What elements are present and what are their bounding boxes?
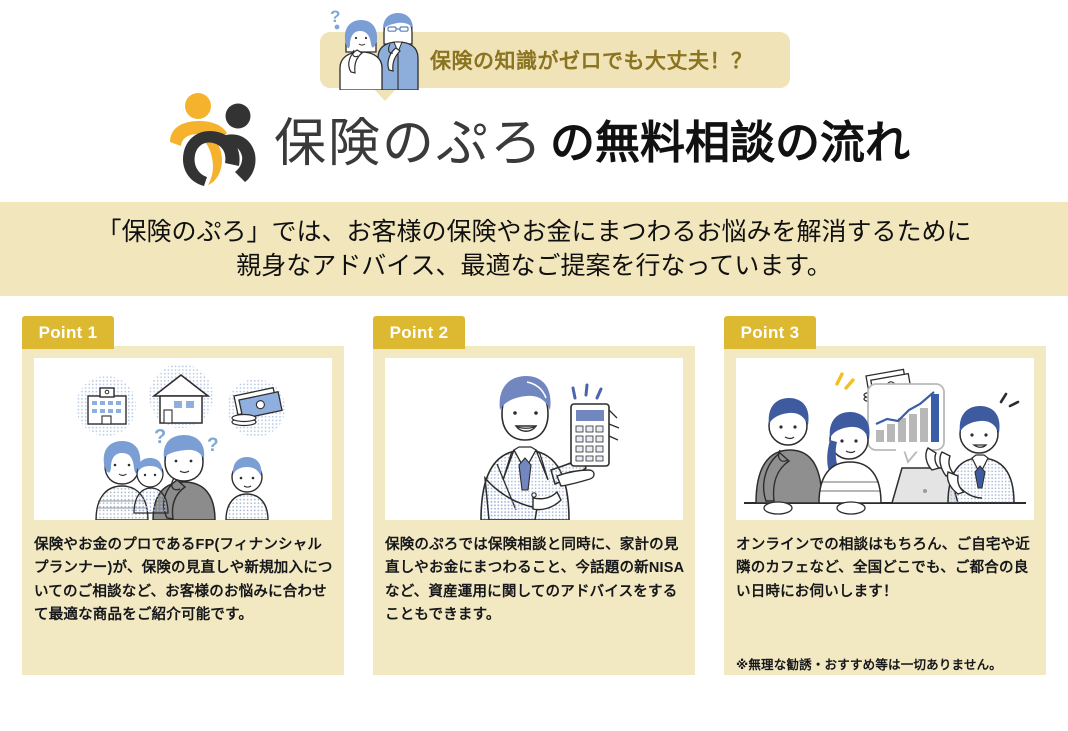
svg-text:?: ? [207,435,219,456]
page-title-rest: の無料相談の流れ [550,106,910,171]
businessman-calculator-icon [385,358,683,520]
point-card-body-2: 保険のぷろでは保険相談と同時に、家計の見直しやお金にまつわること、今話題の新NI… [373,346,695,675]
point-note-3: ※無理な勧誘・おすすめ等は一切ありません。 [736,654,1036,673]
svg-text:?: ? [330,7,340,26]
page-header: 保険のぷろ の無料相談の流れ [0,88,1068,192]
svg-text:?: ? [154,426,166,448]
ribbon-text: 保険の知識がゼロでも大丈夫！？ [430,32,753,88]
thinking-people-icon: ? [326,0,436,90]
point-card-body-1: ? ? [22,346,344,675]
point-illustration-3 [736,358,1034,520]
family-thought-bubbles-icon: ? ? [34,358,332,520]
consultation-with-chart-icon [736,358,1034,520]
point-illustration-2 [385,358,683,520]
point-card-3: Point 3 [724,316,1046,675]
point-badge-2: Point 2 [373,316,465,349]
lead-band: 「保険のぷろ」では、お客様の保険やお金にまつわるお悩みを解消するために 親身なア… [0,202,1068,296]
point-text-2: 保険のぷろでは保険相談と同時に、家計の見直しやお金にまつわること、今話題の新NI… [385,534,685,628]
ribbon-banner: ? 保険の知識がゼロでも大丈夫！？ [320,32,790,88]
point-illustration-1: ? ? [34,358,332,520]
points-card-list: Point 1 [0,316,1068,678]
lead-line-1: 「保険のぷろ」では、お客様の保険やお金にまつわるお悩みを解消するために [96,215,971,250]
hokennopuro-logo-icon [166,90,272,186]
lead-line-2: 親身なアドバイス、最適なご提案を行なっています。 [236,249,832,284]
page-title: 保険のぷろ の無料相談の流れ [274,88,910,188]
page-title-brand: 保険のぷろ [274,101,544,176]
point-card-1: Point 1 [22,316,344,675]
point-text-1: 保険やお金のプロであるFP(フィナンシャルプランナー)が、保険の見直しや新規加入… [34,534,334,628]
point-badge-1: Point 1 [22,316,114,349]
page-root: ? 保険の知識がゼロでも大丈夫！？ [0,0,1068,731]
point-card-2: Point 2 [373,316,695,675]
point-card-body-3: オンラインでの相談はもちろん、ご自宅や近隣のカフェなど、全国どこでも、ご都合の良… [724,346,1046,675]
point-badge-3: Point 3 [724,316,816,349]
point-text-3: オンラインでの相談はもちろん、ご自宅や近隣のカフェなど、全国どこでも、ご都合の良… [736,534,1036,604]
